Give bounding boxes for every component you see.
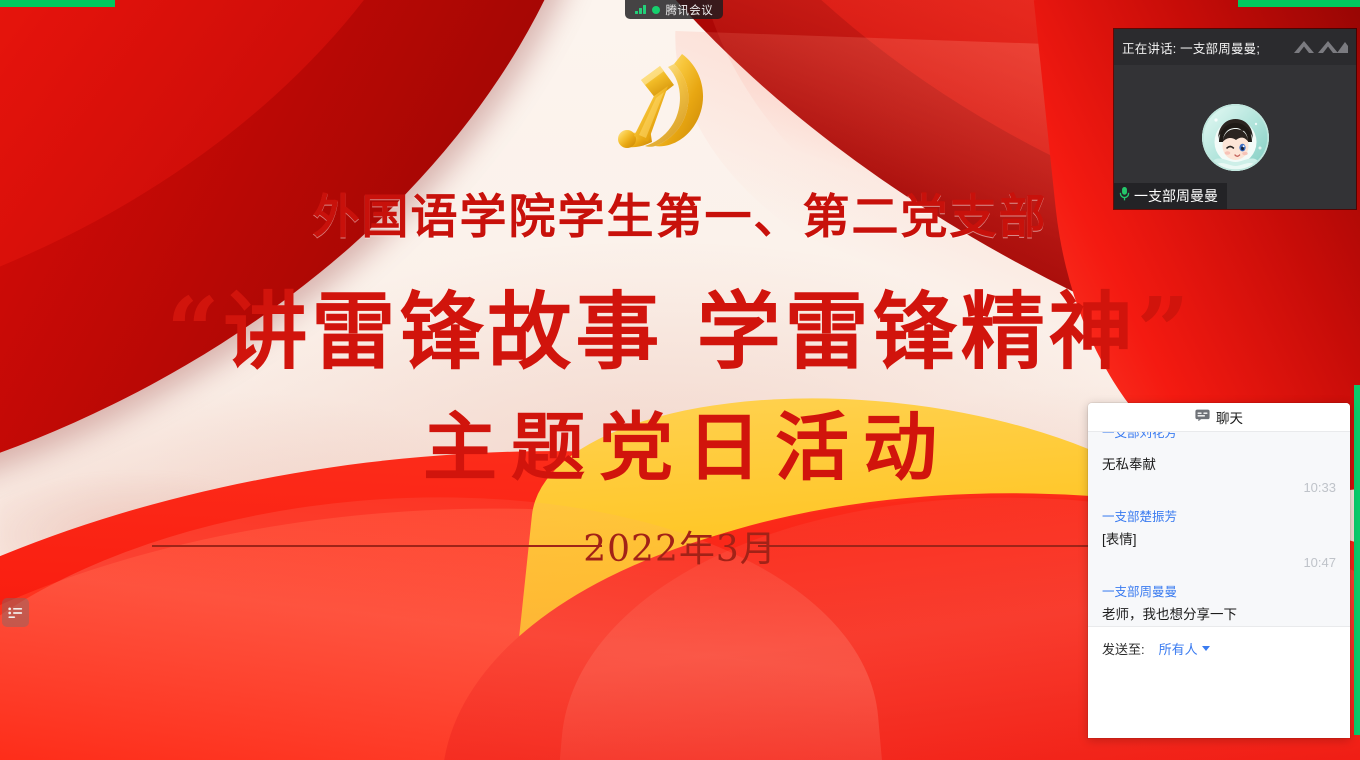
signal-bars-icon xyxy=(635,5,646,14)
video-tile[interactable]: 一支部周曼曼 xyxy=(1114,65,1356,209)
send-to-label: 发送至: xyxy=(1102,639,1145,658)
window-edge-accent-right xyxy=(1354,385,1360,735)
window-edge-accent-top-left xyxy=(0,0,115,7)
participant-name-chip: 一支部周曼曼 xyxy=(1114,183,1227,209)
chat-message: 无私奉献 10:33 xyxy=(1102,443,1336,499)
microphone-on-icon xyxy=(1118,185,1131,207)
chat-composer[interactable]: 发送至: 所有人 xyxy=(1088,626,1350,738)
chat-message-time: 10:33 xyxy=(1102,476,1336,499)
chat-panel-header: 聊天 xyxy=(1088,403,1350,431)
chat-message-text: [表情] xyxy=(1102,527,1336,551)
slide-list-icon[interactable] xyxy=(2,598,29,627)
chat-message: 一支部楚振芳 [表情] 10:47 xyxy=(1102,499,1336,574)
chat-message-time: 10:47 xyxy=(1102,551,1336,574)
app-name-label: 腾讯会议 xyxy=(666,2,714,18)
cpc-party-emblem-icon xyxy=(608,46,720,164)
chat-message-text: 老师，我也想分享一下 xyxy=(1102,602,1336,626)
user-avatar-icon xyxy=(1202,104,1269,171)
active-speaker-label: 正在讲话: 一支部周曼曼; xyxy=(1122,38,1260,57)
chat-sender-name: 一支部刘花芳 xyxy=(1102,432,1177,443)
chat-message: 一支部周曼曼 老师，我也想分享一下 xyxy=(1102,574,1336,626)
open-quote: “ xyxy=(166,277,223,385)
window-edge-accent-top-right xyxy=(1238,0,1360,7)
send-to-dropdown[interactable]: 所有人 xyxy=(1159,639,1210,658)
slide-title-text: 讲雷锋故事 学雷锋精神 xyxy=(223,282,1136,381)
send-to-value-label: 所有人 xyxy=(1159,639,1198,658)
active-speaker-bar: 正在讲话: 一支部周曼曼; xyxy=(1114,29,1356,65)
recording-dot-icon xyxy=(652,6,660,14)
send-to-row: 发送至: 所有人 xyxy=(1102,639,1336,658)
chat-message-text: 无私奉献 xyxy=(1102,452,1336,476)
participant-name-label: 一支部周曼曼 xyxy=(1134,186,1218,206)
chat-message-clipped: 一支部刘花芳 xyxy=(1102,432,1336,443)
chat-bubble-icon xyxy=(1195,408,1210,426)
chat-message-list[interactable]: 一支部刘花芳 无私奉献 10:33 一支部楚振芳 [表情] 10:47 一支部周… xyxy=(1088,431,1350,626)
close-quote: ” xyxy=(1137,277,1194,385)
chat-panel[interactable]: 聊天 一支部刘花芳 无私奉献 10:33 一支部楚振芳 [表情] 10:47 一… xyxy=(1088,403,1350,738)
chat-panel-title: 聊天 xyxy=(1216,407,1243,427)
screen: 外国语学院学生第一、第二党支部 “讲雷锋故事 学雷锋精神” 主题党日活动 202… xyxy=(0,0,1360,760)
slide-title-line-1: “讲雷锋故事 学雷锋精神” xyxy=(0,265,1360,386)
meeting-toolbar-pill[interactable]: 腾讯会议 xyxy=(625,0,723,19)
chevron-down-icon xyxy=(1202,646,1210,651)
chat-sender-name: 一支部周曼曼 xyxy=(1102,583,1336,602)
chat-sender-name: 一支部楚振芳 xyxy=(1102,508,1336,527)
video-thumbnail-panel[interactable]: 正在讲话: 一支部周曼曼; xyxy=(1114,29,1356,209)
audio-waveform-icon xyxy=(1292,37,1348,57)
